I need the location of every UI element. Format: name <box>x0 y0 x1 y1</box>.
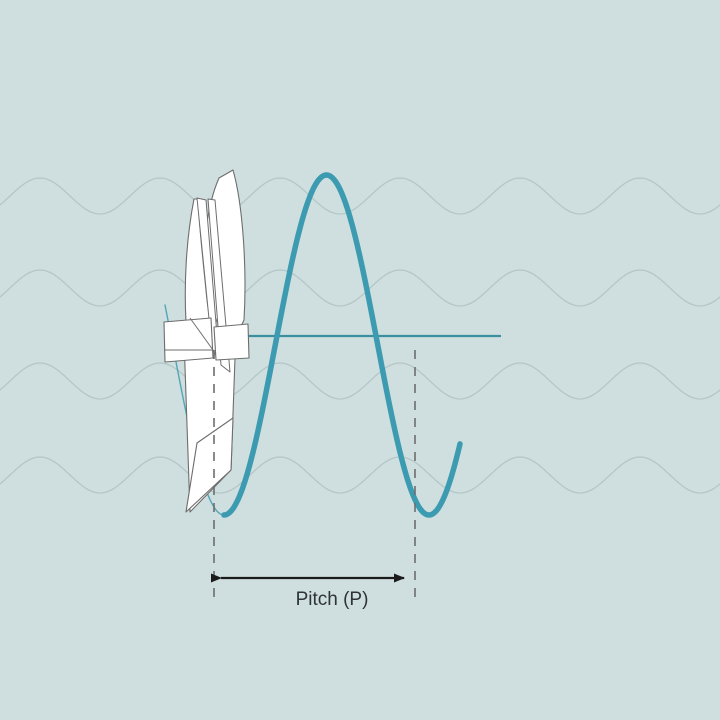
figure-background <box>0 0 720 720</box>
pitch-label: Pitch (P) <box>296 589 369 610</box>
diagram-canvas: Pitch (P) <box>0 0 720 720</box>
propeller-hub-right <box>214 324 249 360</box>
propeller-pitch-figure: Pitch (P) <box>0 0 720 720</box>
